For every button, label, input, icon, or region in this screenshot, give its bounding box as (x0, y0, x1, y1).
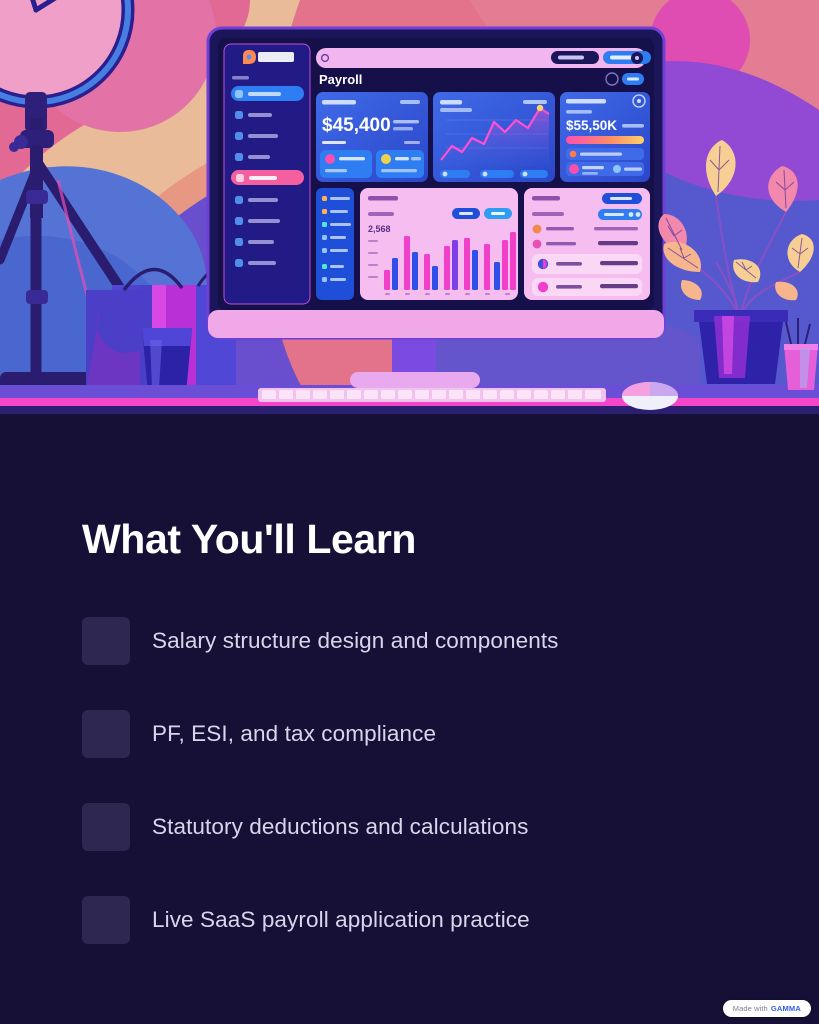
card-payroll-cost: $45,400 (316, 92, 428, 182)
hero-illustration-svg: Payroll $45,400 (0, 0, 819, 414)
bullet-square-icon (82, 803, 130, 851)
card-total-amounts (433, 92, 555, 182)
list-item: Statutory deductions and calculations (82, 780, 762, 873)
bullet-square-icon (82, 617, 130, 665)
desk-cup (142, 328, 192, 394)
dashboard-sidebar (224, 44, 310, 304)
svg-text:2,568: 2,568 (368, 224, 391, 234)
card-dashboard-bar-chart: 2,568 (316, 188, 518, 300)
monitor: Payroll $45,400 (208, 28, 664, 388)
keyboard (258, 388, 606, 402)
list-item: PF, ESI, and tax compliance (82, 687, 762, 780)
svg-text:Payroll: Payroll (319, 72, 362, 87)
svg-text:$45,400: $45,400 (322, 115, 391, 136)
list-item-label: Live SaaS payroll application practice (152, 907, 530, 933)
mouse (622, 382, 678, 410)
content-section: What You'll Learn Salary structure desig… (0, 414, 819, 1024)
bullet-square-icon (82, 896, 130, 944)
list-item-label: Salary structure design and components (152, 628, 559, 654)
card-connected-tools: $55,50K (560, 92, 650, 182)
card-pay-index (524, 188, 650, 300)
page-title: What You'll Learn (82, 517, 416, 562)
hero-illustration: Payroll $45,400 (0, 0, 819, 414)
learn-list: Salary structure design and components P… (82, 594, 762, 966)
list-item: Salary structure design and components (82, 594, 762, 687)
svg-text:$55,50K: $55,50K (566, 118, 617, 133)
list-item: Live SaaS payroll application practice (82, 873, 762, 966)
badge-made-with-label: Made with (733, 1004, 768, 1013)
list-item-label: Statutory deductions and calculations (152, 814, 528, 840)
list-item-label: PF, ESI, and tax compliance (152, 721, 436, 747)
badge-brand-label: GAMMA (771, 1004, 801, 1013)
made-with-gamma-badge[interactable]: Made with GAMMA (723, 1000, 811, 1017)
bullet-square-icon (82, 710, 130, 758)
dashboard-topbar (316, 48, 651, 68)
